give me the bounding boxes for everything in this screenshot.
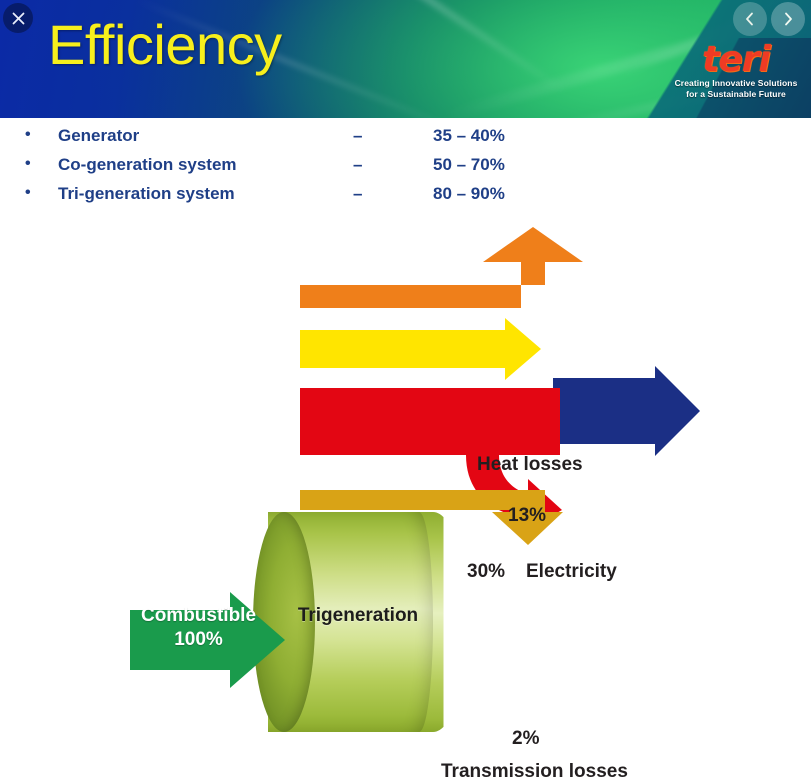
heat-title: Heat <box>475 625 516 646</box>
bullet-dash: – <box>353 126 362 146</box>
previous-slide-button[interactable] <box>733 2 767 36</box>
bullet-value: 35 – 40% <box>433 126 505 146</box>
cooling-label: Cooling <box>578 621 649 643</box>
list-item: • Generator – 35 – 40% <box>0 126 811 155</box>
logo-tagline-line1: Creating Innovative Solutions <box>667 78 805 89</box>
bullet-marker: • <box>25 184 31 202</box>
combustible-label: Combustible 100% <box>136 604 261 652</box>
slide-banner: Efficiency teri Creating Innovative Solu… <box>0 0 811 118</box>
electricity-percent: 30% <box>467 561 505 583</box>
bullet-value: 50 – 70% <box>433 155 505 175</box>
heat-flow <box>300 388 560 455</box>
bullet-label: Tri-generation system <box>58 184 235 204</box>
bullet-label: Co-generation system <box>58 155 237 175</box>
heat-losses-flow <box>300 227 583 308</box>
slide-canvas: Efficiency teri Creating Innovative Solu… <box>0 0 811 605</box>
transmission-losses-title: Transmission losses <box>441 761 628 783</box>
heat-percent: 55% <box>477 646 515 667</box>
heat-losses-title: Heat losses <box>477 454 583 476</box>
page-title: Efficiency <box>48 16 282 75</box>
combustible-value: 100% <box>174 629 223 650</box>
bullet-dash: – <box>353 184 362 204</box>
bullet-label: Generator <box>58 126 139 146</box>
efficiency-bullet-list: • Generator – 35 – 40% • Co-generation s… <box>0 126 811 213</box>
chevron-right-icon <box>780 11 796 27</box>
bullet-dash: – <box>353 155 362 175</box>
close-icon <box>11 11 26 26</box>
close-button[interactable] <box>3 3 33 33</box>
list-item: • Tri-generation system – 80 – 90% <box>0 184 811 213</box>
transmission-losses-percent: 2% <box>512 728 539 750</box>
electricity-title: Electricity <box>526 561 617 583</box>
teri-logo: teri Creating Innovative Solutions for a… <box>667 42 805 100</box>
bullet-value: 80 – 90% <box>433 184 505 204</box>
process-label: Trigeneration <box>268 605 448 627</box>
next-slide-button[interactable] <box>771 2 805 36</box>
heat-losses-percent: 13% <box>508 505 546 527</box>
trigeneration-flow-diagram: Trigeneration Combustible 100% Heat loss… <box>0 222 811 605</box>
logo-tagline-line2: for a Sustainable Future <box>667 89 805 100</box>
cooling-flow <box>553 366 700 456</box>
heat-label: Heat 55% <box>461 625 531 667</box>
bullet-marker: • <box>25 126 31 144</box>
bullet-marker: • <box>25 155 31 173</box>
chevron-left-icon <box>742 11 758 27</box>
electricity-flow <box>300 318 541 380</box>
logo-wordmark: teri <box>667 42 805 78</box>
list-item: • Co-generation system – 50 – 70% <box>0 155 811 184</box>
combustible-title: Combustible <box>141 605 256 626</box>
